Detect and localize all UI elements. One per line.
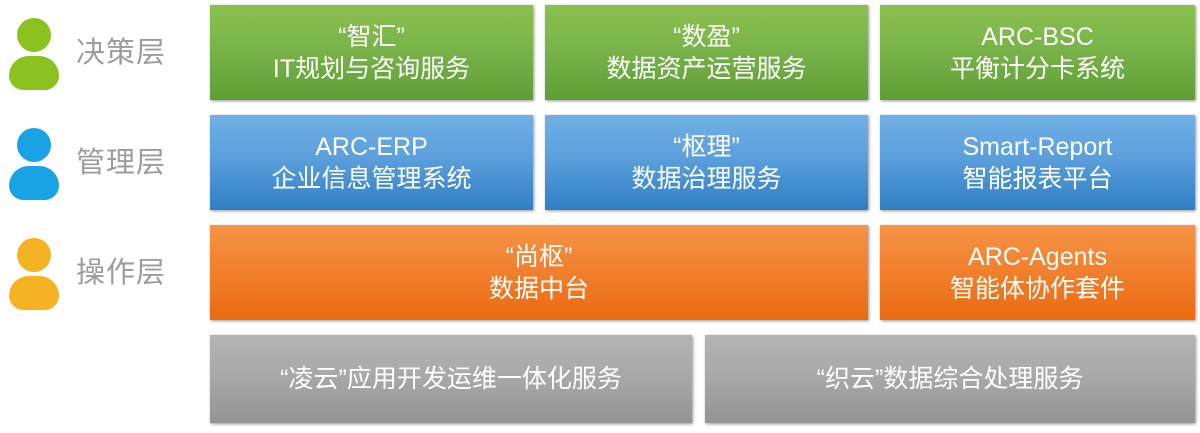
management-box-smart-report-subtitle: 智能报表平台 xyxy=(962,163,1112,195)
operation-box-shangshu[interactable]: “尚枢” 数据中台 xyxy=(210,225,868,320)
operation-box-arc-agents-subtitle: 智能体协作套件 xyxy=(950,273,1125,305)
decision-box-zhihui[interactable]: “智汇” IT规划与咨询服务 xyxy=(210,5,533,100)
management-box-arc-erp[interactable]: ARC-ERP 企业信息管理系统 xyxy=(210,115,533,210)
decision-box-zhihui-title: “智汇” xyxy=(338,21,405,53)
person-icon-decision xyxy=(0,16,70,90)
operation-box-shangshu-subtitle: 数据中台 xyxy=(489,273,589,305)
layer-label-operation: 操作层 xyxy=(0,231,200,315)
layer-label-operation-text: 操作层 xyxy=(76,259,166,288)
operation-box-arc-agents-title: ARC-Agents xyxy=(968,241,1107,273)
management-box-smart-report[interactable]: Smart-Report 智能报表平台 xyxy=(880,115,1195,210)
foundation-box-lingyun[interactable]: “凌云”应用开发运维一体化服务 xyxy=(210,335,692,423)
management-box-smart-report-title: Smart-Report xyxy=(962,131,1112,163)
foundation-box-zhiyun-subtitle: “织云”数据综合处理服务 xyxy=(817,363,1084,395)
management-box-arc-erp-title: ARC-ERP xyxy=(315,131,428,163)
management-box-shuli-subtitle: 数据治理服务 xyxy=(631,163,781,195)
layer-label-management: 管理层 xyxy=(0,121,200,205)
decision-box-shuying-title: “数盈” xyxy=(673,21,740,53)
management-box-shuli[interactable]: “枢理” 数据治理服务 xyxy=(545,115,868,210)
foundation-box-lingyun-subtitle: “凌云”应用开发运维一体化服务 xyxy=(280,363,622,395)
layer-label-decision: 决策层 xyxy=(0,11,200,95)
operation-box-shangshu-title: “尚枢” xyxy=(506,241,573,273)
decision-box-arc-bsc[interactable]: ARC-BSC 平衡计分卡系统 xyxy=(880,5,1195,100)
decision-box-shuying[interactable]: “数盈” 数据资产运营服务 xyxy=(545,5,868,100)
decision-box-arc-bsc-subtitle: 平衡计分卡系统 xyxy=(950,53,1125,85)
operation-box-arc-agents[interactable]: ARC-Agents 智能体协作套件 xyxy=(880,225,1195,320)
management-box-arc-erp-subtitle: 企业信息管理系统 xyxy=(271,163,471,195)
layer-label-decision-text: 决策层 xyxy=(76,39,166,68)
management-box-shuli-title: “枢理” xyxy=(673,131,740,163)
layer-label-management-text: 管理层 xyxy=(76,149,166,178)
decision-box-arc-bsc-title: ARC-BSC xyxy=(981,21,1094,53)
person-icon-management xyxy=(0,126,70,200)
person-icon-operation xyxy=(0,236,70,310)
diagram-canvas: 决策层 管理层 操作层 “智汇” IT规划与咨询服务 “数盈” 数据资产运营服务… xyxy=(0,0,1200,433)
foundation-box-zhiyun[interactable]: “织云”数据综合处理服务 xyxy=(705,335,1195,423)
decision-box-shuying-subtitle: 数据资产运营服务 xyxy=(606,53,806,85)
decision-box-zhihui-subtitle: IT规划与咨询服务 xyxy=(273,53,470,85)
